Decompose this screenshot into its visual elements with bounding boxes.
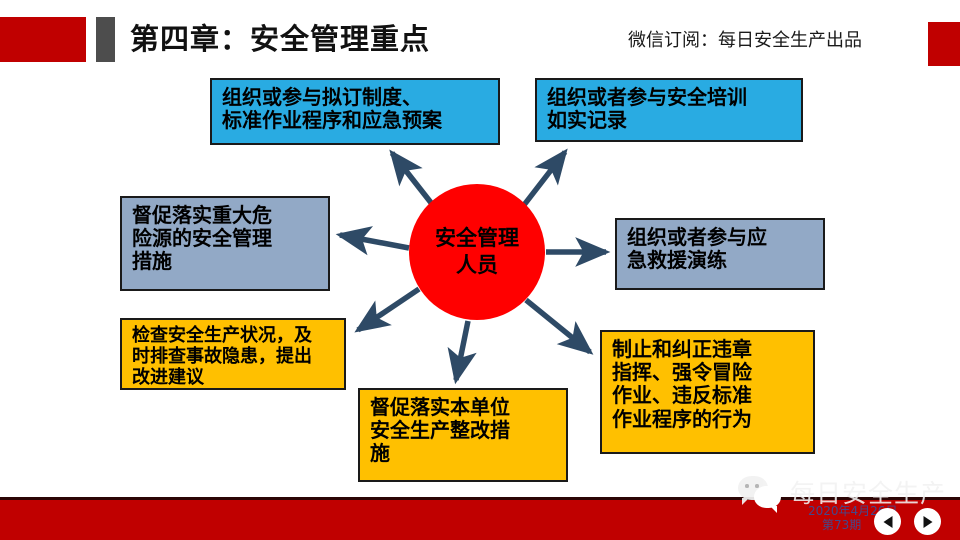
arrow-to-violation [526,300,590,352]
chevron-left-icon [883,516,892,528]
chevron-right-icon [923,516,932,528]
node-drill[interactable]: 组织或者参与应 急救援演练 [615,218,825,290]
next-slide-button[interactable] [914,508,941,535]
wechat-bubble-icon [738,476,784,510]
node-rectify[interactable]: 督促落实本单位 安全生产整改措 施 [358,388,568,482]
slide-canvas: 第四章：安全管理重点 微信订阅：每日安全生产出品 组织或参与拟订制度、 标准 [0,0,960,540]
page-title: 第四章：安全管理重点 [130,17,430,62]
arrow-to-hazard [340,235,409,248]
center-node-safety-manager[interactable]: 安全管理 人员 [409,184,545,320]
arrow-to-rectify [456,321,468,380]
node-training[interactable]: 组织或者参与安全培训 如实记录 [535,78,803,142]
header-red-block-right [928,22,960,66]
node-policy[interactable]: 组织或参与拟订制度、 标准作业程序和应急预案 [210,78,500,145]
header-gray-bar [96,17,115,62]
subscription-note: 微信订阅：每日安全生产出品 [628,26,862,52]
prev-slide-button[interactable] [874,508,901,535]
node-inspect[interactable]: 检查安全生产状况，及 时排查事故隐患，提出 改进建议 [120,318,346,390]
arrow-to-training [524,152,565,205]
arrow-to-inspect [358,289,419,330]
node-violation[interactable]: 制止和纠正违章 指挥、强令冒险 作业、违反标准 作业程序的行为 [600,330,815,454]
watermark-issue: 第73期 [822,516,861,533]
header-red-block-left [0,17,86,62]
node-hazard[interactable]: 督促落实重大危 险源的安全管理 措施 [120,196,330,291]
arrow-to-policy [392,153,432,204]
